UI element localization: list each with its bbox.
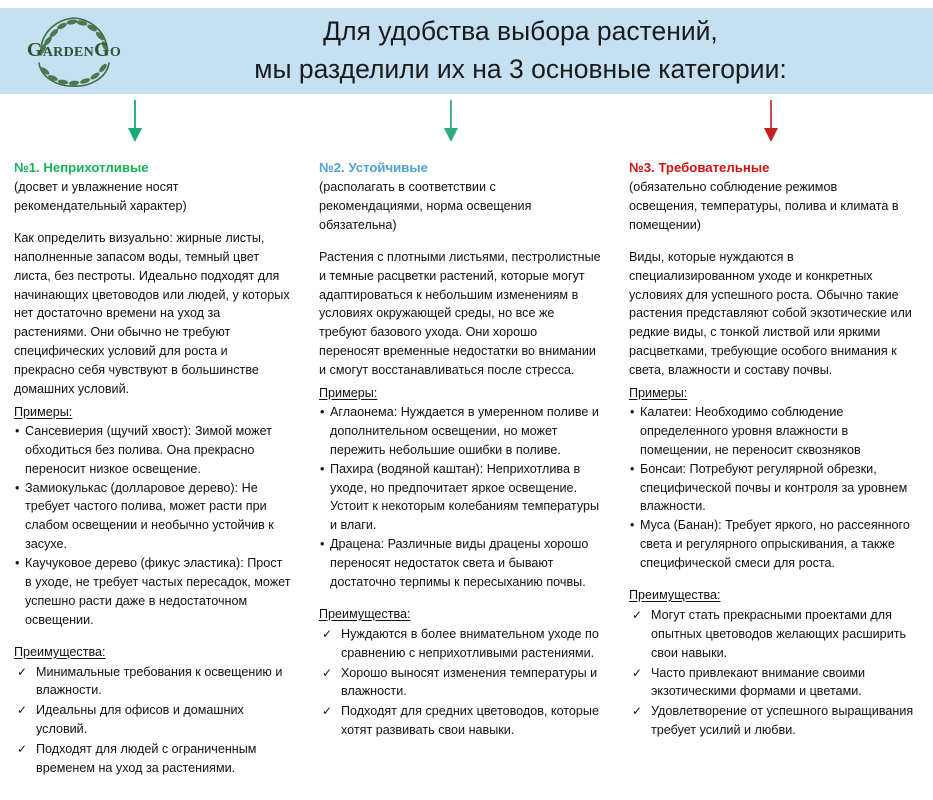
list-item: Каучуковое дерево (фикус эластика): Прос… bbox=[14, 554, 291, 630]
brand-logo[interactable]: GardenGo bbox=[0, 8, 148, 94]
category-1-title: №1. Неприхотливые bbox=[14, 158, 291, 177]
arrow-down-category-1 bbox=[126, 100, 144, 144]
category-2-subtitle-line-2: рекомендациями, норма освещения bbox=[319, 197, 601, 216]
list-item: ✓Подходят для людей с ограниченным време… bbox=[14, 740, 291, 778]
list-item: ✓Идеальны для офисов и домашних условий. bbox=[14, 701, 291, 739]
category-3-subtitle: (обязательно соблюдение режимов освещени… bbox=[629, 178, 919, 235]
list-item: ✓Часто привлекают внимание своими экзоти… bbox=[629, 664, 919, 702]
list-item: Бонсаи: Потребуют регулярной обрезки, сп… bbox=[629, 460, 919, 517]
category-1-advantages-list: ✓Минимальные требования к освещению и вл… bbox=[14, 663, 291, 778]
category-1-description: Как определить визуально: жирные листы, … bbox=[14, 229, 291, 399]
category-3-examples-label: Примеры: bbox=[629, 384, 919, 403]
categories-container: №1. Неприхотливые (досвет и увлажнение н… bbox=[0, 158, 933, 779]
category-1-examples-list: Сансевиерия (щучий хвост): Зимой может о… bbox=[14, 422, 291, 630]
category-2-subtitle-line-1: (располагать в соответствии с bbox=[319, 178, 601, 197]
arrow-down-category-3 bbox=[762, 100, 780, 144]
header-banner: GardenGo Для удобства выбора растений, м… bbox=[0, 8, 933, 94]
page-title-line-2: мы разделили их на 3 основные категории: bbox=[148, 51, 893, 89]
check-icon: ✓ bbox=[632, 702, 642, 720]
category-3-advantages-label: Преимущества: bbox=[629, 586, 919, 605]
category-1-examples-label: Примеры: bbox=[14, 403, 291, 422]
list-item: ✓Нуждаются в более внимательном уходе по… bbox=[319, 625, 601, 663]
category-2-advantages-label: Преимущества: bbox=[319, 605, 601, 624]
check-icon: ✓ bbox=[632, 606, 642, 624]
list-item: ✓Хорошо выносят изменения температуры и … bbox=[319, 664, 601, 702]
check-icon: ✓ bbox=[322, 625, 332, 643]
category-column-1: №1. Неприхотливые (досвет и увлажнение н… bbox=[0, 158, 305, 779]
list-item: Аглаонема: Нуждается в умеренном поливе … bbox=[319, 403, 601, 460]
category-2-advantages-list: ✓Нуждаются в более внимательном уходе по… bbox=[319, 625, 601, 740]
category-2-examples-list: Аглаонема: Нуждается в умеренном поливе … bbox=[319, 403, 601, 592]
list-item: Муса (Банан): Требует яркого, но рассеян… bbox=[629, 516, 919, 573]
check-icon: ✓ bbox=[322, 702, 332, 720]
list-item: ✓Удовлетворение от успешного выращивания… bbox=[629, 702, 919, 740]
brand-logo-text: GardenGo bbox=[15, 40, 133, 60]
list-item: ✓Минимальные требования к освещению и вл… bbox=[14, 663, 291, 701]
check-icon: ✓ bbox=[17, 663, 27, 681]
category-3-examples-list: Калатеи: Необходимо соблюдение определен… bbox=[629, 403, 919, 573]
category-1-advantages-label: Преимущества: bbox=[14, 643, 291, 662]
list-item: Замиокулькас (долларовое дерево): Не тре… bbox=[14, 479, 291, 555]
check-icon: ✓ bbox=[632, 664, 642, 682]
page-title-line-1: Для удобства выбора растений, bbox=[148, 13, 893, 51]
category-3-subtitle-line-3: помещении) bbox=[629, 216, 919, 235]
category-1-subtitle-line-2: рекомендательный характер) bbox=[14, 197, 291, 216]
list-item: Калатеи: Необходимо соблюдение определен… bbox=[629, 403, 919, 460]
category-3-description: Виды, которые нуждаются в специализирова… bbox=[629, 248, 919, 380]
check-icon: ✓ bbox=[17, 701, 27, 719]
category-2-title: №2. Устойчивые bbox=[319, 158, 601, 177]
list-item: Драцена: Различные виды драцены хорошо п… bbox=[319, 535, 601, 592]
arrow-down-category-2 bbox=[442, 100, 460, 144]
category-2-description: Растения с плотными листьями, пестролист… bbox=[319, 248, 601, 380]
list-item: Сансевиерия (щучий хвост): Зимой может о… bbox=[14, 422, 291, 479]
category-column-2: №2. Устойчивые (располагать в соответств… bbox=[305, 158, 615, 741]
check-icon: ✓ bbox=[17, 740, 27, 758]
check-icon: ✓ bbox=[322, 664, 332, 682]
category-column-3: №3. Требовательные (обязательно соблюден… bbox=[615, 158, 933, 741]
category-2-subtitle: (располагать в соответствии с рекомендац… bbox=[319, 178, 601, 235]
category-3-subtitle-line-1: (обязательно соблюдение режимов bbox=[629, 178, 919, 197]
category-2-subtitle-line-3: обязательна) bbox=[319, 216, 601, 235]
category-1-subtitle: (досвет и увлажнение носят рекомендатель… bbox=[14, 178, 291, 216]
category-3-subtitle-line-2: освещения, температуры, полива и климата… bbox=[629, 197, 919, 216]
page-title: Для удобства выбора растений, мы раздели… bbox=[148, 13, 933, 88]
list-item: ✓Могут стать прекрасными проектами для о… bbox=[629, 606, 919, 663]
list-item: ✓Подходят для средних цветоводов, которы… bbox=[319, 702, 601, 740]
category-2-examples-label: Примеры: bbox=[319, 384, 601, 403]
list-item: Пахира (водяной каштан): Неприхотлива в … bbox=[319, 460, 601, 536]
category-3-title: №3. Требовательные bbox=[629, 158, 919, 177]
category-3-advantages-list: ✓Могут стать прекрасными проектами для о… bbox=[629, 606, 919, 740]
category-1-subtitle-line-1: (досвет и увлажнение носят bbox=[14, 178, 291, 197]
